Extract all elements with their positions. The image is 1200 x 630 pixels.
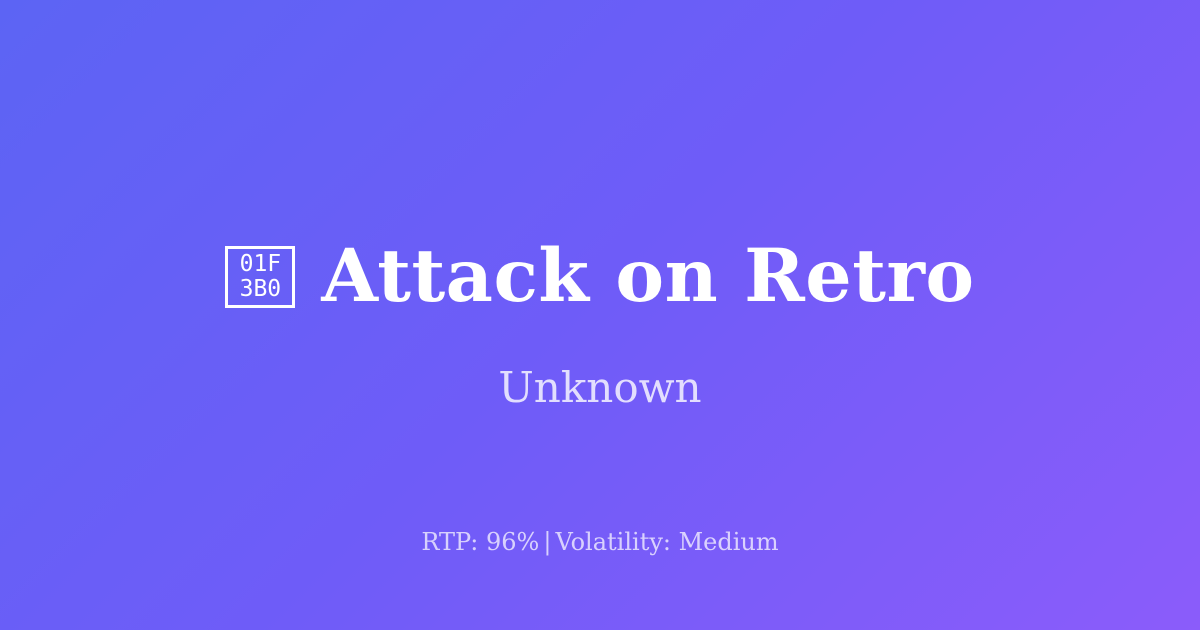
tofu-codepoint-top: 01F xyxy=(240,252,282,277)
game-meta-footer: RTP: 96%|Volatility: Medium xyxy=(0,526,1200,558)
slot-machine-icon: 01F 3B0 xyxy=(225,246,295,308)
volatility-label: Volatility: Medium xyxy=(555,528,778,556)
rtp-label: RTP: 96% xyxy=(421,528,539,556)
meta-separator: | xyxy=(539,528,555,556)
tofu-codepoint-bottom: 3B0 xyxy=(240,277,282,302)
og-preview-card: 01F 3B0 Attack on Retro Unknown RTP: 96%… xyxy=(0,0,1200,630)
page-title: Attack on Retro xyxy=(321,232,974,320)
title-row: 01F 3B0 Attack on Retro xyxy=(0,232,1200,320)
page-subtitle: Unknown xyxy=(0,362,1200,414)
